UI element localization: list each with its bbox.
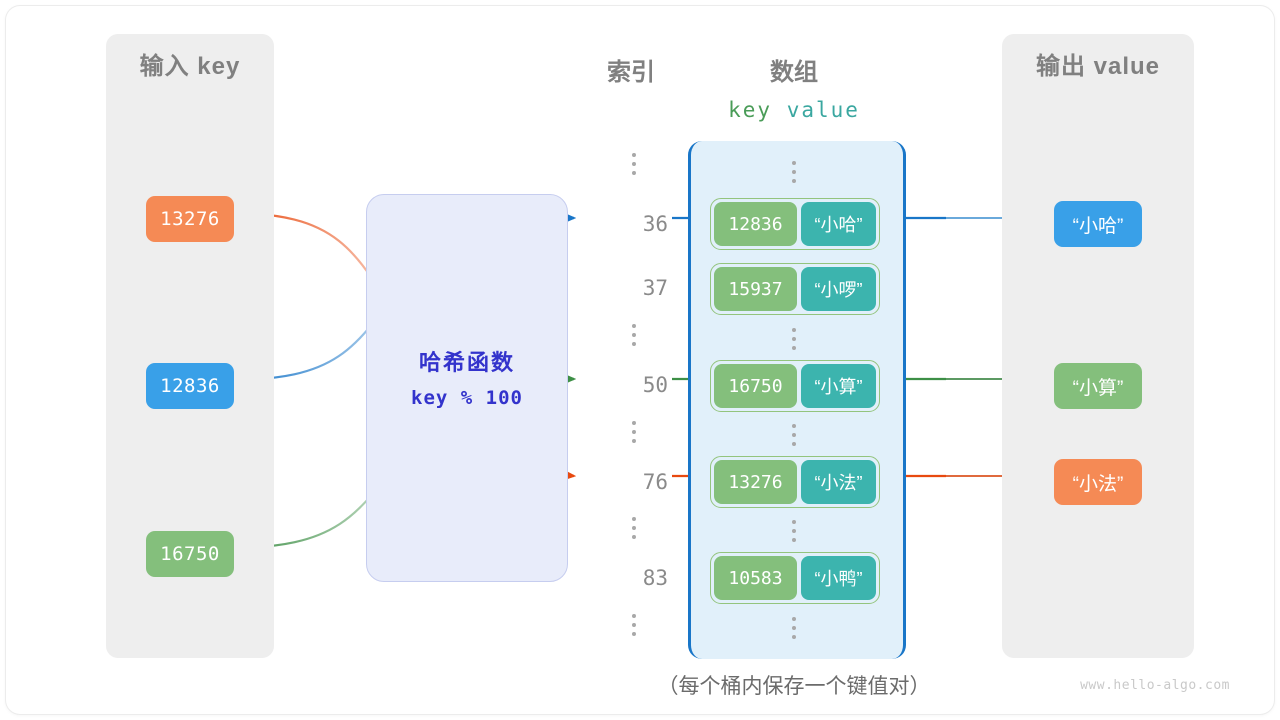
input-key-chip[interactable]: 13276 xyxy=(146,196,234,242)
bucket-value-cell: “小算” xyxy=(801,364,876,408)
bucket[interactable]: 10583“小鸭” xyxy=(710,552,880,604)
index-ellipsis xyxy=(632,324,636,346)
key-header-label: key xyxy=(728,98,772,122)
bucket-ellipsis xyxy=(792,520,796,542)
bucket-value-cell: “小法” xyxy=(801,460,876,504)
index-label: 37 xyxy=(594,276,668,300)
output-value-chip[interactable]: “小算” xyxy=(1054,363,1142,409)
value-header-label: value xyxy=(787,98,860,122)
array-column-header: 数组 xyxy=(726,52,862,87)
output-value-panel xyxy=(1002,34,1194,658)
bucket-key-cell: 10583 xyxy=(714,556,797,600)
index-ellipsis xyxy=(632,517,636,539)
bucket-value-cell: “小啰” xyxy=(801,267,876,311)
hash-function-box: 哈希函数 key % 100 xyxy=(366,194,568,582)
output-panel-title: 输出 value xyxy=(1002,46,1194,81)
diagram-card: 输入 key 输出 value 索引 数组 key value 哈希函数 key… xyxy=(6,6,1274,714)
diagram-caption: （每个桶内保存一个键值对） xyxy=(584,670,1004,700)
bucket-key-cell: 13276 xyxy=(714,460,797,504)
bucket[interactable]: 16750“小算” xyxy=(710,360,880,412)
bucket-ellipsis xyxy=(792,424,796,446)
index-label: 50 xyxy=(594,373,668,397)
bucket-value-cell: “小鸭” xyxy=(801,556,876,600)
index-ellipsis xyxy=(632,421,636,443)
hash-function-title: 哈希函数 xyxy=(367,345,567,377)
bucket-ellipsis xyxy=(792,328,796,350)
bucket[interactable]: 13276“小法” xyxy=(710,456,880,508)
bucket-ellipsis xyxy=(792,161,796,183)
index-label: 36 xyxy=(594,212,668,236)
hash-function-expression: key % 100 xyxy=(367,387,567,409)
bucket-ellipsis xyxy=(792,617,796,639)
bucket-key-cell: 15937 xyxy=(714,267,797,311)
output-value-chip[interactable]: “小哈” xyxy=(1054,201,1142,247)
bucket[interactable]: 15937“小啰” xyxy=(710,263,880,315)
bucket[interactable]: 12836“小哈” xyxy=(710,198,880,250)
bucket-key-cell: 16750 xyxy=(714,364,797,408)
input-key-chip[interactable]: 16750 xyxy=(146,531,234,577)
index-label: 76 xyxy=(594,470,668,494)
output-value-chip[interactable]: “小法” xyxy=(1054,459,1142,505)
input-panel-title: 输入 key xyxy=(106,46,274,81)
index-ellipsis xyxy=(632,153,636,175)
key-value-header: key value xyxy=(666,98,922,122)
input-key-chip[interactable]: 12836 xyxy=(146,363,234,409)
site-watermark: www.hello-algo.com xyxy=(1080,678,1230,693)
index-column-header: 索引 xyxy=(581,52,681,87)
index-label: 83 xyxy=(594,566,668,590)
bucket-value-cell: “小哈” xyxy=(801,202,876,246)
bucket-key-cell: 12836 xyxy=(714,202,797,246)
index-ellipsis xyxy=(632,614,636,636)
